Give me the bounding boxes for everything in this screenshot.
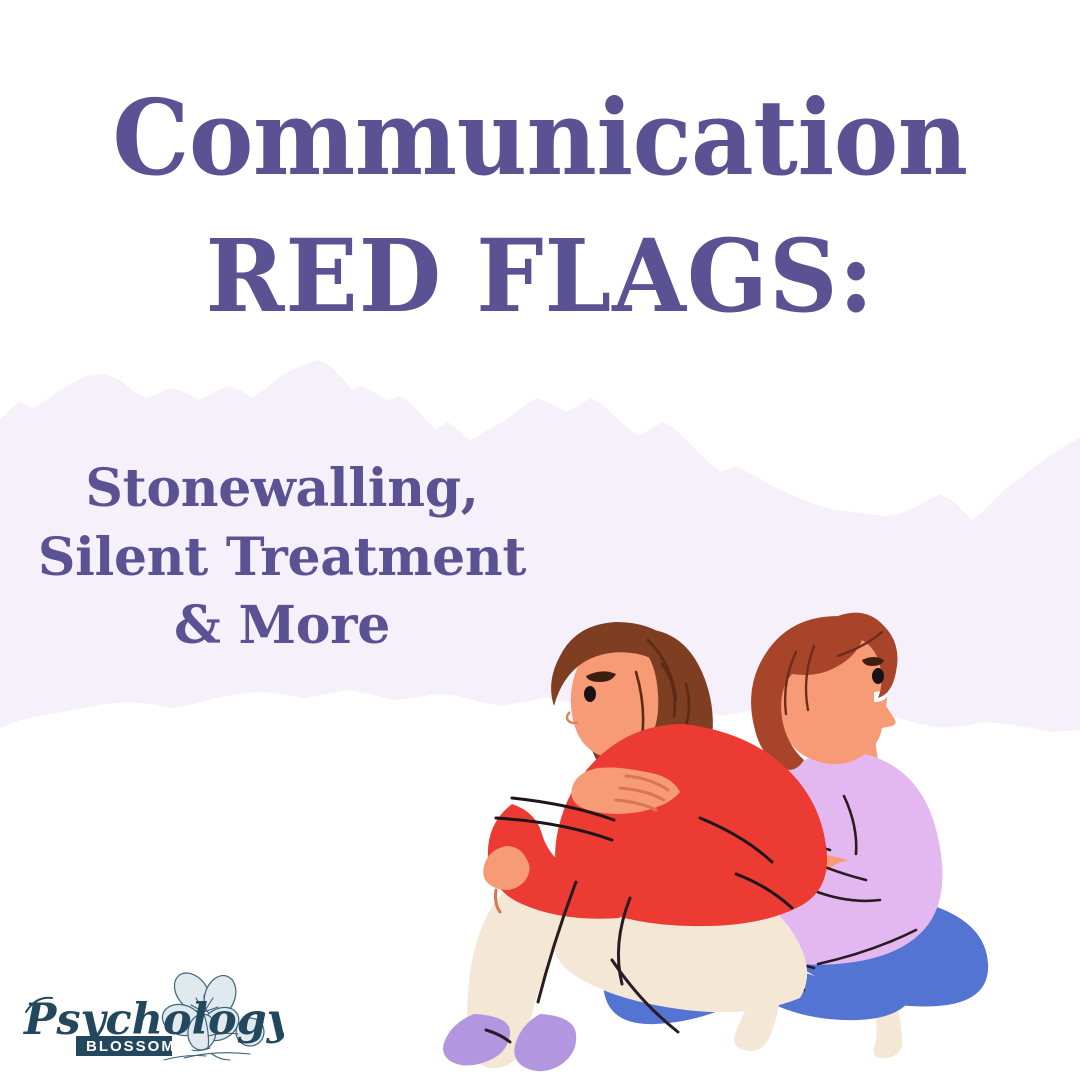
logo-badge-text: BLOSSOM <box>86 1038 176 1055</box>
brand-logo-psychology-blossom[interactable]: Psychology BLOSSOM <box>14 962 284 1074</box>
page-title-line-1: Communication <box>38 86 1042 190</box>
page-title-line-2: RED FLAGS: <box>27 226 1053 326</box>
background-top-white <box>0 0 1080 420</box>
illustration-two-people-back-to-back <box>440 600 1080 1080</box>
social-post-canvas: Communication RED FLAGS: Stonewalling, S… <box>0 0 1080 1080</box>
subtitle-line-1: Stonewalling, <box>22 455 542 524</box>
subtitle-line-2: Silent Treatment <box>22 524 542 593</box>
